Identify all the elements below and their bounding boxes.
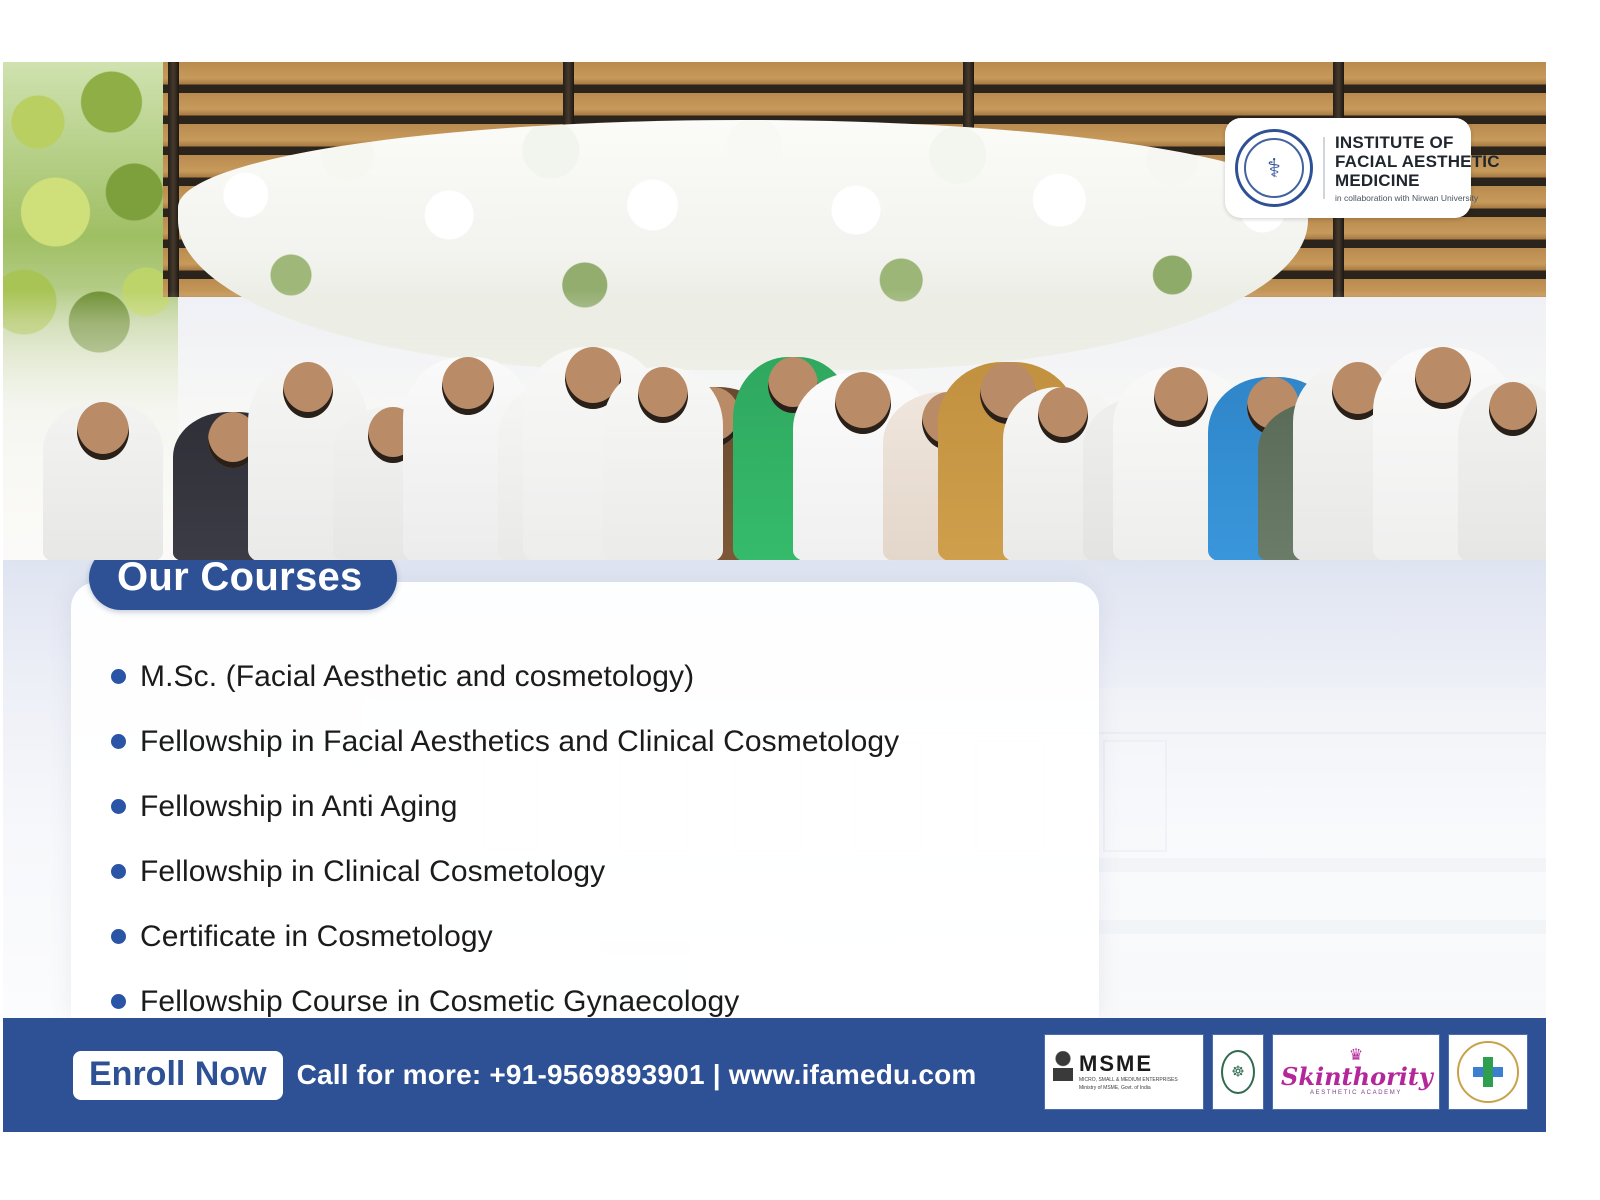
person-head (1489, 382, 1537, 436)
logo-divider (1323, 137, 1325, 199)
page-title: Our Courses (89, 560, 397, 610)
person-head (1038, 387, 1088, 443)
list-item[interactable]: Fellowship in Facial Aesthetics and Clin… (111, 709, 1083, 774)
list-item[interactable]: M.Sc. (Facial Aesthetic and cosmetology) (111, 644, 1083, 709)
enroll-now-button[interactable]: Enroll Now (73, 1051, 283, 1100)
course-label: M.Sc. (Facial Aesthetic and cosmetology) (140, 660, 694, 694)
logo-line-3: MEDICINE (1335, 171, 1461, 190)
logo-line-1: INSTITUTE OF (1335, 133, 1461, 152)
institute-seal-icon: ⚕ (1235, 129, 1313, 207)
wood-post (168, 62, 179, 297)
person-head (638, 367, 688, 423)
msme-subtitle-2: Ministry of MSME, Govt. of India (1079, 1085, 1195, 1091)
msme-logo: MSME MICRO, SMALL & MEDIUM ENTERPRISES M… (1044, 1034, 1204, 1110)
medical-cross-icon (1473, 1057, 1503, 1087)
skinthority-subtitle: AESTHETIC ACADEMY (1281, 1090, 1431, 1096)
bullet-icon (111, 864, 126, 879)
university-emblem-logo: ☸ (1212, 1034, 1264, 1110)
list-item[interactable]: Fellowship in Clinical Cosmetology (111, 839, 1083, 904)
course-label: Fellowship in Facial Aesthetics and Clin… (140, 725, 899, 759)
footer-contact-bar: Enroll Now Call for more: +91-9569893901… (3, 1018, 1546, 1132)
india-emblem-icon (1053, 1051, 1073, 1093)
courses-list: M.Sc. (Facial Aesthetic and cosmetology)… (111, 644, 1083, 1018)
course-label: Fellowship Course in Cosmetic Gynaecolog… (140, 985, 739, 1019)
institute-name: INSTITUTE OF FACIAL AESTHETIC MEDICINE i… (1335, 133, 1461, 203)
promotional-banner: ⚕ INSTITUTE OF FACIAL AESTHETIC MEDICINE… (3, 62, 1546, 1132)
person-head (283, 362, 333, 418)
group-photo-region: ⚕ INSTITUTE OF FACIAL AESTHETIC MEDICINE… (3, 62, 1546, 562)
caduceus-icon: ⚕ (1238, 155, 1310, 181)
contact-text: Call for more: +91-9569893901 | www.ifam… (297, 1059, 977, 1091)
skinthority-logo: ♛ Skinthority AESTHETIC ACADEMY (1272, 1034, 1440, 1110)
person-head (1154, 367, 1208, 427)
bullet-icon (111, 669, 126, 684)
logo-tagline: in collaboration with Nirwan University (1335, 193, 1461, 203)
building-window (1103, 740, 1167, 852)
person (1458, 382, 1546, 562)
clinic-seal-icon (1457, 1041, 1519, 1103)
person-head (1415, 347, 1471, 409)
bullet-icon (111, 994, 126, 1009)
person (43, 402, 163, 562)
emblem-glyph-icon: ☸ (1223, 1065, 1253, 1080)
institute-logo-badge: ⚕ INSTITUTE OF FACIAL AESTHETIC MEDICINE… (1225, 118, 1471, 218)
skinthority-name: Skinthority (1281, 1064, 1431, 1089)
list-item[interactable]: Fellowship Course in Cosmetic Gynaecolog… (111, 969, 1083, 1018)
bullet-icon (111, 799, 126, 814)
courses-region: Our Courses M.Sc. (Facial Aesthetic and … (3, 560, 1546, 1018)
emblem-seal-icon: ☸ (1221, 1050, 1255, 1094)
logo-line-2: FACIAL AESTHETIC (1335, 152, 1461, 171)
bullet-icon (111, 734, 126, 749)
person-head (835, 372, 891, 434)
msme-subtitle-1: MICRO, SMALL & MEDIUM ENTERPRISES (1079, 1077, 1195, 1083)
person-head (77, 402, 129, 460)
course-label: Fellowship in Anti Aging (140, 790, 458, 824)
person-head (442, 357, 494, 415)
list-item[interactable]: Fellowship in Anti Aging (111, 774, 1083, 839)
person (603, 367, 723, 562)
course-label: Certificate in Cosmetology (140, 920, 493, 954)
people-group (3, 290, 1546, 562)
clinic-logo (1448, 1034, 1528, 1110)
bullet-icon (111, 929, 126, 944)
course-label: Fellowship in Clinical Cosmetology (140, 855, 605, 889)
msme-name: MSME (1079, 1053, 1195, 1075)
partner-logos: MSME MICRO, SMALL & MEDIUM ENTERPRISES M… (1044, 1034, 1528, 1110)
courses-card: Our Courses M.Sc. (Facial Aesthetic and … (71, 582, 1099, 1018)
list-item[interactable]: Certificate in Cosmetology (111, 904, 1083, 969)
